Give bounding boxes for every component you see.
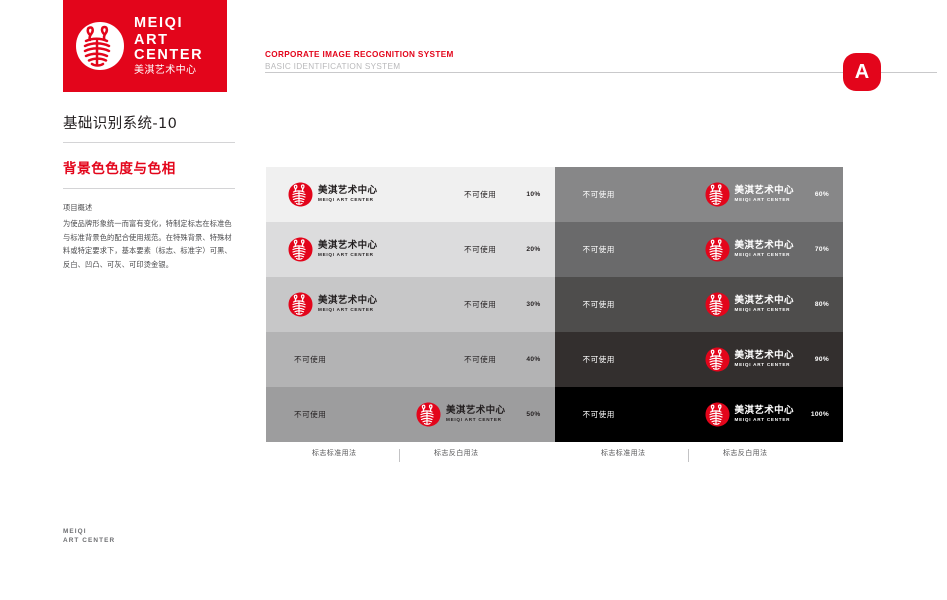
footer-line1: MEIQI [63,528,115,537]
tone-row[interactable]: 美淇艺术中心MEIQI ART CENTER不可使用30% [266,277,555,332]
tone-row[interactable]: 不可使用美淇艺术中心MEIQI ART CENTER80% [555,277,844,332]
brand-name-cn: 美淇艺术中心 [134,66,227,76]
meiqi-seal-icon [75,21,125,71]
not-available-label: 不可使用 [583,299,615,310]
logo-text-en: MEIQI ART CENTER [318,308,377,313]
logo-text-cn: 美淇艺术中心 [318,296,377,306]
tone-percent-label: 90% [815,356,829,363]
sidebar-description: 项目概述 为使品牌形象统一而富有变化，特制定标志在标准色与标准背景色的配合使用规… [63,189,235,272]
logo-text-cn: 美淇艺术中心 [735,296,794,306]
not-available-label: 不可使用 [464,244,496,255]
logo-lockup: 美淇艺术中心MEIQI ART CENTER [416,402,505,427]
not-available-label: 不可使用 [583,189,615,200]
tone-row[interactable]: 不可使用不可使用40% [266,332,555,387]
tone-row[interactable]: 不可使用美淇艺术中心MEIQI ART CENTER60% [555,167,844,222]
meiqi-seal-icon [705,182,730,207]
tone-row[interactable]: 不可使用美淇艺术中心MEIQI ART CENTER50% [266,387,555,442]
not-available-label: 不可使用 [583,244,615,255]
logo-text-en: MEIQI ART CENTER [735,308,794,313]
grid-right-panel: 不可使用美淇艺术中心MEIQI ART CENTER60%不可使用美淇艺术中心M… [555,167,844,442]
header-subtitle: BASIC IDENTIFICATION SYSTEM [265,62,843,71]
tone-row[interactable]: 美淇艺术中心MEIQI ART CENTER不可使用20% [266,222,555,277]
logo-lockup: 美淇艺术中心MEIQI ART CENTER [288,237,377,262]
tone-row[interactable]: 不可使用美淇艺术中心MEIQI ART CENTER70% [555,222,844,277]
tone-percent-label: 100% [811,411,829,418]
logo-text-cn: 美淇艺术中心 [318,241,377,251]
background-tone-grid: 美淇艺术中心MEIQI ART CENTER不可使用10%美淇艺术中心MEIQI… [266,167,843,442]
document-footer: MEIQI ART CENTER [63,528,115,545]
logo-text-cn: 美淇艺术中心 [318,186,377,196]
grid-left-panel: 美淇艺术中心MEIQI ART CENTER不可使用10%美淇艺术中心MEIQI… [266,167,555,442]
caption-separator [688,449,689,462]
logo-text-en: MEIQI ART CENTER [735,198,794,203]
logo-lockup: 美淇艺术中心MEIQI ART CENTER [288,182,377,207]
grid-caption: 标志反白用法 [723,448,767,458]
header-divider [265,72,937,73]
badge-letter: A [843,53,881,91]
tone-percent-label: 80% [815,301,829,308]
tone-row[interactable]: 不可使用美淇艺术中心MEIQI ART CENTER100% [555,387,844,442]
brand-name-en-line1: MEIQI [134,16,227,31]
tone-percent-label: 50% [526,411,540,418]
description-text: 为使品牌形象统一而富有变化，特制定标志在标准色与标准背景色的配合使用规范。在特殊… [63,217,235,272]
logo-lockup: 美淇艺术中心MEIQI ART CENTER [288,292,377,317]
logo-text-en: MEIQI ART CENTER [318,198,377,203]
page-subtitle: 背景色色度与色相 [63,143,235,188]
logo-lockup: 美淇艺术中心MEIQI ART CENTER [705,237,794,262]
logo-text-en: MEIQI ART CENTER [735,363,794,368]
logo-text-en: MEIQI ART CENTER [735,418,794,423]
logo-text-cn: 美淇艺术中心 [735,186,794,196]
logo-text-cn: 美淇艺术中心 [735,241,794,251]
grid-caption: 标志标准用法 [312,448,356,458]
logo-text-cn: 美淇艺术中心 [446,406,505,416]
meiqi-seal-icon [288,292,313,317]
page-title: 基础识别系统-10 [63,112,235,142]
tone-percent-label: 20% [526,246,540,253]
logo-lockup: 美淇艺术中心MEIQI ART CENTER [705,347,794,372]
logo-lockup: 美淇艺术中心MEIQI ART CENTER [705,182,794,207]
tone-row[interactable]: 美淇艺术中心MEIQI ART CENTER不可使用10% [266,167,555,222]
tone-percent-label: 60% [815,191,829,198]
meiqi-seal-icon [705,347,730,372]
caption-separator [399,449,400,462]
not-available-label: 不可使用 [583,409,615,420]
logo-text-cn: 美淇艺术中心 [735,351,794,361]
tone-percent-label: 10% [526,191,540,198]
logo-text-en: MEIQI ART CENTER [446,418,505,423]
brand-panel: MEIQI ART CENTER 美淇艺术中心 [63,0,227,92]
not-available-label: 不可使用 [464,299,496,310]
grid-caption-row: 标志标准用法标志反白用法标志标准用法标志反白用法 [266,448,843,466]
logo-text-cn: 美淇艺术中心 [735,406,794,416]
tone-row[interactable]: 不可使用美淇艺术中心MEIQI ART CENTER90% [555,332,844,387]
not-available-label: 不可使用 [464,189,496,200]
footer-line2: ART CENTER [63,537,115,546]
document-header: CORPORATE IMAGE RECOGNITION SYSTEM BASIC… [265,50,843,71]
brand-name-en-line2: ART CENTER [134,33,227,62]
meiqi-seal-icon [416,402,441,427]
sidebar: 基础识别系统-10 背景色色度与色相 项目概述 为使品牌形象统一而富有变化，特制… [63,112,235,272]
meiqi-seal-icon [288,182,313,207]
tone-percent-label: 70% [815,246,829,253]
logo-lockup: 美淇艺术中心MEIQI ART CENTER [705,402,794,427]
meiqi-seal-icon [705,237,730,262]
grid-caption: 标志反白用法 [434,448,478,458]
logo-text-en: MEIQI ART CENTER [318,253,377,258]
not-available-label: 不可使用 [464,354,496,365]
meiqi-seal-icon [705,292,730,317]
section-badge: A [843,53,881,91]
meiqi-seal-icon [705,402,730,427]
description-label: 项目概述 [63,201,235,215]
meiqi-seal-icon [288,237,313,262]
tone-percent-label: 40% [526,356,540,363]
brand-wordmark: MEIQI ART CENTER 美淇艺术中心 [134,16,227,77]
not-available-label: 不可使用 [294,354,326,365]
tone-percent-label: 30% [526,301,540,308]
logo-text-en: MEIQI ART CENTER [735,253,794,258]
grid-caption: 标志标准用法 [601,448,645,458]
logo-lockup: 美淇艺术中心MEIQI ART CENTER [705,292,794,317]
header-title: CORPORATE IMAGE RECOGNITION SYSTEM [265,50,843,59]
not-available-label: 不可使用 [294,409,326,420]
not-available-label: 不可使用 [583,354,615,365]
